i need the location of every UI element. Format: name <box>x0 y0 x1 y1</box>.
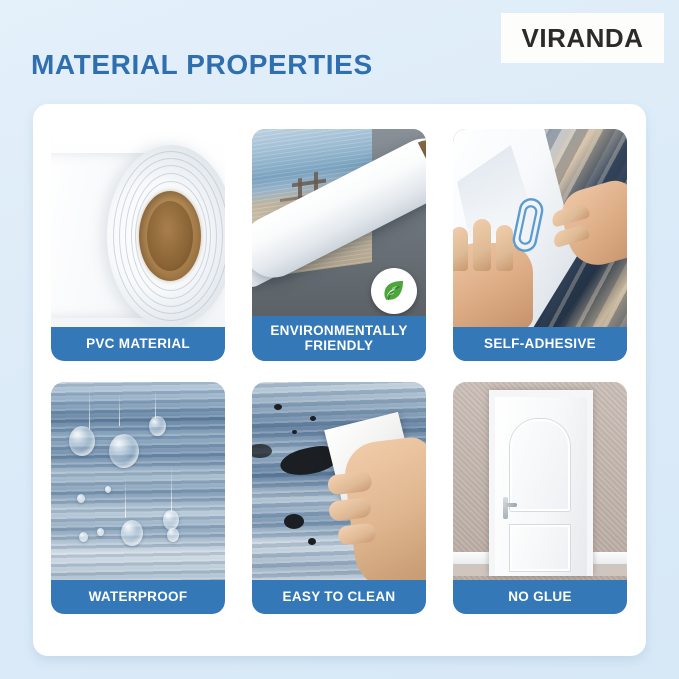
feature-label-environmentally-friendly: ENVIRONMENTALLY FRIENDLY <box>252 316 426 361</box>
page-title: MATERIAL PROPERTIES <box>31 49 373 81</box>
label-line-1: ENVIRONMENTALLY <box>256 323 422 338</box>
feature-card-easy-to-clean[interactable]: EASY TO CLEAN <box>252 382 426 614</box>
feature-card-environmentally-friendly[interactable]: ENVIRONMENTALLY FRIENDLY <box>252 129 426 361</box>
feature-card-waterproof[interactable]: WATERPROOF <box>51 382 225 614</box>
feature-label-waterproof: WATERPROOF <box>51 580 225 614</box>
feature-card-no-glue[interactable]: NO GLUE <box>453 382 627 614</box>
brand-logo: VIRANDA <box>501 13 664 63</box>
label-line-2: FRIENDLY <box>256 338 422 353</box>
feature-label-self-adhesive: SELF-ADHESIVE <box>453 327 627 361</box>
feature-grid: PVC MATERIAL <box>51 129 628 614</box>
brand-name: VIRANDA <box>522 23 644 54</box>
leaf-badge <box>371 268 417 314</box>
feature-card-pvc-material[interactable]: PVC MATERIAL <box>51 129 225 361</box>
feature-label-pvc-material: PVC MATERIAL <box>51 327 225 361</box>
feature-label-easy-to-clean: EASY TO CLEAN <box>252 580 426 614</box>
leaf-icon <box>379 276 409 306</box>
feature-label-no-glue: NO GLUE <box>453 580 627 614</box>
feature-card-self-adhesive[interactable]: SELF-ADHESIVE <box>453 129 627 361</box>
feature-panel: PVC MATERIAL <box>33 104 646 656</box>
